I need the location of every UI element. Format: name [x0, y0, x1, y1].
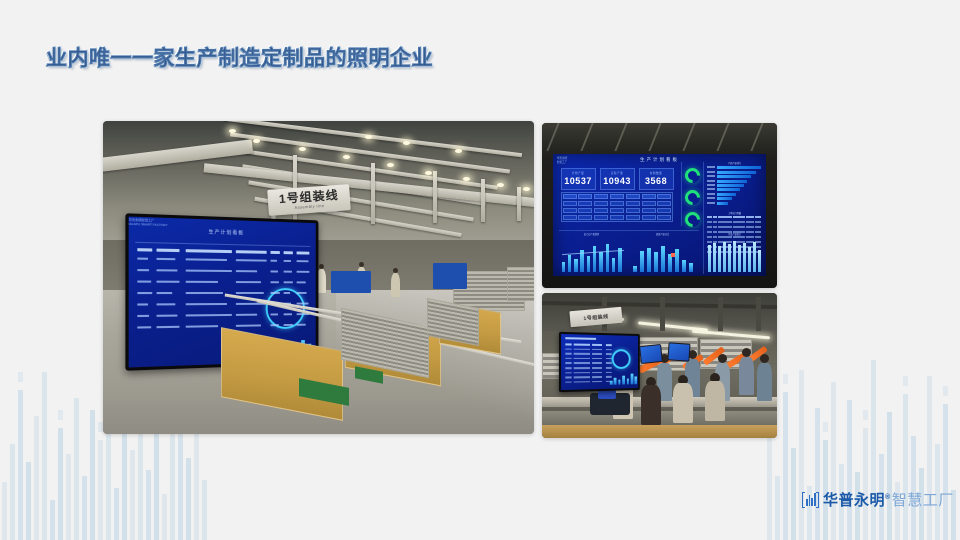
screen-table-cell [186, 292, 223, 294]
screen-table-cell [137, 315, 149, 317]
screen-table-cell [606, 376, 612, 378]
screen-table-cell [236, 324, 261, 326]
detail-cell [733, 226, 745, 228]
screen-table-cell [574, 362, 590, 364]
screen-table-cell [592, 372, 602, 374]
decorative-bar [847, 400, 852, 540]
matrix-cell [642, 215, 656, 220]
v-bar [580, 250, 583, 272]
decorative-bar [90, 410, 95, 540]
matrix-cell [563, 208, 577, 213]
screen-table-cell [565, 367, 571, 369]
kpi-label: 计划产量 [572, 171, 584, 175]
v-bar [743, 243, 746, 272]
screen-table-cell [137, 257, 147, 259]
detail-cell [733, 236, 745, 238]
h-bar-label [707, 197, 715, 199]
workers-assembly-line-photo: 1号组装线 [542, 293, 777, 438]
brand-logo: 华普永明® 智慧工厂 [802, 489, 954, 511]
matrix-cell [610, 208, 624, 213]
screen-bar [631, 374, 633, 385]
worker-head [718, 354, 727, 363]
assembly-line-sign-sublabel: Assembly line [294, 203, 324, 210]
matrix-cell [657, 201, 671, 206]
screen-table-cell [565, 358, 571, 360]
matrix-cell [642, 201, 656, 206]
screen-table-header-cell [236, 250, 267, 253]
v-bar [599, 252, 602, 272]
assembly-line-sign-label: 1号组装线 [279, 189, 339, 205]
v-bar [574, 259, 577, 272]
screen-bar [614, 378, 616, 385]
screen-table-cell [565, 362, 571, 364]
kpi-label: 实际产量 [611, 171, 623, 175]
matrix-cell [626, 215, 640, 220]
v-bar [758, 250, 761, 272]
screen-table-cell [297, 324, 306, 326]
decorative-bar [18, 390, 23, 540]
detail-cell [707, 216, 712, 218]
decorative-bar [2, 482, 7, 540]
bar-mid-title: 班组产量对比 [629, 232, 697, 236]
screen-title-bar [565, 337, 596, 339]
ceiling-rib [546, 123, 559, 151]
v-bar [689, 263, 693, 272]
decorative-bar [122, 422, 127, 540]
detail-cell [713, 216, 717, 218]
decorative-bar-segment [58, 410, 63, 420]
matrix-cell [642, 194, 656, 199]
h-bar [717, 166, 761, 169]
distant-machinery [507, 267, 534, 301]
ceiling-light [299, 147, 306, 151]
worker-body [739, 357, 754, 395]
matrix-cell [594, 215, 608, 220]
detail-cell [718, 216, 732, 218]
detail-cell [707, 241, 712, 243]
v-bar [640, 251, 644, 272]
screen-table-cell [592, 358, 602, 360]
v-bar [587, 256, 590, 272]
v-bar [728, 244, 731, 272]
matrix-cell [594, 194, 608, 199]
bar-left-title: 近七日产量趋势 [559, 232, 625, 236]
decorative-bar [775, 476, 780, 540]
ceiling-column [433, 171, 437, 223]
ceiling-rib [614, 123, 627, 151]
matrix-cell [610, 194, 624, 199]
detail-cell [707, 236, 712, 238]
decorative-bar [767, 420, 772, 540]
decorative-bar [783, 392, 788, 540]
screen-table-cell [574, 358, 590, 360]
screen-table-cell [574, 376, 590, 378]
v-bar [682, 260, 686, 272]
screen-table-cell [236, 281, 261, 283]
decorative-bar [202, 480, 207, 540]
kpi-value: 10943 [603, 176, 631, 186]
ceiling-column [756, 297, 761, 331]
ceiling-rib [682, 123, 695, 151]
ceiling-column [371, 163, 375, 224]
detail-cell [755, 236, 761, 238]
v-bar [647, 248, 651, 272]
decorative-bar [791, 448, 796, 540]
slide-canvas: 业内唯一一家生产制造定制品的照明企业 1号组装线 Assembly line 华… [0, 0, 960, 540]
screen-table-cell [156, 292, 172, 294]
decorative-bar [34, 416, 39, 540]
decorative-bar-segment [18, 372, 23, 382]
decorative-bar-segment [903, 376, 908, 386]
ceiling-ribs [542, 123, 777, 151]
matrix-cell [657, 194, 671, 199]
h-bar [717, 180, 747, 183]
detail-cell [718, 221, 732, 223]
ceiling-column [660, 297, 665, 331]
screen-table-cell [156, 303, 174, 305]
detail-cell [713, 236, 717, 238]
v-bar [654, 252, 658, 272]
panel-divider [703, 162, 704, 274]
screen-table-cell [236, 259, 267, 261]
screen-bar [618, 380, 620, 385]
decorative-bar [146, 470, 151, 540]
kpi-value: 10537 [564, 176, 592, 186]
screen-table-cell [270, 260, 277, 262]
screen-table-cell [592, 381, 602, 383]
blue-bin [331, 271, 371, 293]
screen-table-cell [156, 269, 177, 271]
screen-table-cell [270, 313, 278, 315]
h-bar [717, 197, 732, 200]
screen-table-cell [297, 281, 306, 283]
h-bar-label [707, 202, 715, 204]
screen-table-cell [574, 348, 590, 350]
decorative-bar [114, 488, 119, 540]
v-bar [723, 242, 726, 272]
decorative-bar [50, 500, 55, 540]
screen-table-cell [574, 367, 590, 369]
screen-table-cell [156, 258, 174, 260]
ceiling-light [497, 183, 504, 187]
h-bar-label [707, 193, 715, 195]
h-bar [717, 193, 736, 196]
detail-cell [718, 226, 732, 228]
decorative-bar [887, 412, 892, 540]
v-bar [568, 255, 571, 272]
screen-header: 生产计划看板 [137, 223, 309, 242]
decorative-bar [10, 444, 15, 540]
matrix-cell [594, 208, 608, 213]
worker-head [393, 268, 398, 273]
v-bar [718, 246, 721, 272]
screen-table-cell [574, 372, 590, 374]
detail-table-title: 工单执行明细 [707, 211, 763, 215]
screen-table-cell [186, 314, 232, 317]
detail-cell [713, 226, 717, 228]
decorative-bar [831, 382, 836, 540]
factory-worker [391, 273, 400, 297]
h-bar-label [707, 175, 715, 177]
matrix-cell [578, 215, 592, 220]
h-bar [717, 202, 728, 205]
screen-table-cell [284, 324, 293, 326]
decorative-bar [863, 428, 868, 540]
worker-body [641, 385, 661, 425]
workstation-board-screen [559, 332, 640, 392]
screen-table-cell [606, 353, 612, 355]
worker-body [673, 383, 693, 423]
screen-table-cell [186, 303, 228, 305]
kpi-label: 在制数量 [650, 171, 662, 175]
screen-table-cell [284, 271, 292, 273]
worker-head [742, 348, 751, 357]
screen-table-cell [270, 292, 279, 294]
gauge-arc [681, 187, 702, 208]
screen-table-cell [270, 270, 278, 272]
decorative-bar [871, 360, 876, 540]
brand-mark-icon [802, 492, 819, 508]
screen-table-cell [297, 260, 309, 262]
screen-table-header-cell [137, 248, 152, 251]
screen-table-cell [186, 281, 219, 283]
gauge-arc [681, 209, 702, 230]
v-bar [612, 258, 615, 272]
screen-bar [610, 381, 613, 385]
v-bar [618, 248, 621, 272]
screen-table-cell [592, 344, 602, 346]
screen-table-cell [606, 362, 612, 363]
detail-cell [707, 221, 712, 223]
matrix-cell [610, 215, 624, 220]
screen-table-cell [565, 381, 571, 383]
matrix-cell [626, 201, 640, 206]
screen-table-cell [186, 325, 219, 328]
hbar-panel-title: 产线产量排行 [708, 161, 762, 165]
matrix-cell [578, 201, 592, 206]
matrix-cell [578, 194, 592, 199]
screen-table-cell [592, 367, 602, 369]
matrix-cell [563, 194, 577, 199]
detail-cell [755, 216, 761, 218]
ceiling-light [425, 171, 432, 175]
screen-table-cell [606, 344, 612, 346]
screen-table-header-cell [156, 249, 179, 252]
screen-table-header-cell [270, 251, 279, 254]
h-bar-label [707, 180, 715, 182]
screen-table-cell [137, 292, 152, 294]
ceiling-light [229, 129, 236, 133]
detail-cell [718, 236, 732, 238]
ceiling-rib [750, 123, 763, 151]
h-bar [717, 171, 756, 174]
screen-table-cell [284, 313, 292, 315]
ceiling-light [455, 149, 462, 153]
matrix-cell [578, 208, 592, 213]
detail-cell [755, 226, 761, 228]
decorative-bar [98, 440, 103, 540]
worker-body [757, 363, 772, 401]
screen-table-cell [606, 349, 612, 351]
screen-bar [627, 379, 629, 385]
matrix-cell [594, 201, 608, 206]
detail-cell [713, 221, 717, 223]
v-bar [733, 241, 736, 272]
screen-table-cell [297, 271, 310, 273]
matrix-cell [657, 208, 671, 213]
detail-cell [746, 236, 754, 238]
panel-divider [681, 162, 682, 226]
h-bar [717, 188, 740, 191]
decorative-bar [162, 494, 167, 540]
kpi-card: 计划产量10537 [561, 168, 596, 190]
ceiling-light [523, 187, 530, 191]
screen-progress-ring [612, 349, 631, 369]
decorative-bar [903, 394, 908, 540]
ceiling-rib [716, 123, 729, 151]
screen-table-cell [592, 376, 602, 378]
detail-cell [746, 226, 754, 228]
screen-table-cell [565, 343, 571, 345]
decorative-bar [26, 462, 31, 540]
decorative-bar [186, 458, 191, 540]
screen-table-cell [137, 303, 147, 305]
screen-table-cell [137, 326, 150, 328]
screen-table-cell [236, 270, 258, 272]
kpi-card: 实际产量10943 [600, 168, 635, 190]
decorative-bar [42, 372, 47, 540]
h-bar-label [707, 166, 715, 168]
detail-cell [746, 221, 754, 223]
screen-table-cell [270, 281, 278, 283]
worker-head [760, 354, 769, 363]
h-bar [717, 184, 744, 187]
h-bar-label [707, 188, 715, 190]
decorative-bar-pattern-right [765, 360, 960, 540]
decorative-bar [58, 428, 63, 540]
ceiling-light [253, 139, 260, 143]
screen-table-cell [236, 292, 264, 294]
screen-table-cell [565, 372, 571, 374]
screen-bar [635, 376, 637, 384]
screen-table-cell [574, 381, 590, 383]
page-title: 业内唯一一家生产制造定制品的照明企业 [46, 42, 433, 72]
brand-name: 华普永明® [823, 493, 891, 508]
decorative-bar [66, 454, 71, 540]
screen-table-cell [592, 348, 602, 350]
production-dashboard-screen-photo: 华普永明 智慧工厂 生产计划看板 计划产量10537实际产量10943在制数量3… [542, 123, 777, 288]
screen-table-cell [574, 344, 590, 346]
highlight-marker [671, 253, 675, 257]
screen-table-cell [592, 362, 602, 364]
screen-table-cell [236, 314, 258, 316]
dashboard-screen: 华普永明 智慧工厂 生产计划看板 计划产量10537实际产量10943在制数量3… [553, 154, 767, 276]
screen-table-cell [565, 353, 571, 355]
decorative-bar [799, 370, 804, 540]
v-bar [748, 247, 751, 272]
assembly-line-overview-photo: 1号组装线 Assembly line 华普永明智慧工厂 HUAPU SMART… [103, 121, 534, 434]
h-bar-label [707, 184, 715, 186]
detail-cell [707, 226, 712, 228]
v-bar [753, 242, 756, 272]
decorative-bar [74, 398, 79, 540]
screen-table-cell [574, 353, 590, 355]
ceiling-light [463, 177, 470, 181]
v-bar [661, 246, 665, 272]
decorative-bar-segment [943, 386, 948, 396]
decorative-bar [170, 434, 175, 540]
v-bar [606, 244, 609, 272]
matrix-cell [563, 201, 577, 206]
workstation-tablet [667, 342, 690, 361]
screen-table-header-cell [284, 251, 293, 254]
v-bar [738, 245, 741, 272]
v-bar [713, 243, 716, 272]
v-bar [675, 249, 679, 272]
bar-right-title: 月度产量统计 [706, 232, 764, 236]
screen-table-cell [156, 314, 177, 316]
screen-table-cell [137, 269, 149, 271]
screen-table-cell [606, 371, 612, 373]
matrix-cell [657, 215, 671, 220]
screen-table-cell [284, 292, 291, 294]
decorative-bar-segment [863, 410, 868, 420]
ceiling-rib [580, 123, 593, 151]
brand-sub-name: 智慧工厂 [892, 493, 954, 508]
screen-table-header-cell [297, 252, 310, 255]
h-bar-label [707, 171, 715, 173]
detail-cell [755, 221, 761, 223]
matrix-cell [626, 208, 640, 213]
detail-cell [733, 216, 745, 218]
screen-bar [622, 376, 624, 385]
decorative-bar [815, 408, 820, 540]
decorative-bar [130, 450, 135, 540]
screen-table-cell [565, 348, 571, 350]
panel-divider [559, 230, 699, 231]
screen-table-cell [156, 326, 179, 328]
h-bar [717, 175, 751, 178]
ceiling-rib [648, 123, 661, 151]
v-bar [708, 245, 711, 272]
screen-table-cell [606, 367, 612, 369]
ceiling-light [365, 135, 372, 139]
decorative-bar [927, 376, 932, 540]
v-bar [562, 262, 565, 272]
ceiling-column [718, 297, 723, 331]
screen-table-cell [186, 269, 232, 272]
ceiling-column [481, 179, 485, 222]
detail-cell [746, 216, 754, 218]
decorative-bar-segment [783, 374, 788, 384]
screen-table-cell [297, 302, 309, 304]
screen-table-header-cell [186, 249, 232, 252]
screen-table-cell [270, 324, 278, 326]
detail-cell [733, 221, 745, 223]
screen-table-cell [284, 260, 291, 262]
registered-mark: ® [885, 494, 891, 501]
worker-head [319, 264, 324, 269]
screen-table-cell [186, 258, 228, 261]
screen-table-cell [565, 377, 571, 379]
matrix-cell [642, 208, 656, 213]
matrix-cell [563, 215, 577, 220]
kpi-card: 在制数量3568 [639, 168, 674, 190]
screen-divider [135, 242, 310, 247]
decorative-bar-segment [823, 422, 828, 432]
v-bar [633, 266, 637, 272]
decorative-bar [943, 404, 948, 540]
